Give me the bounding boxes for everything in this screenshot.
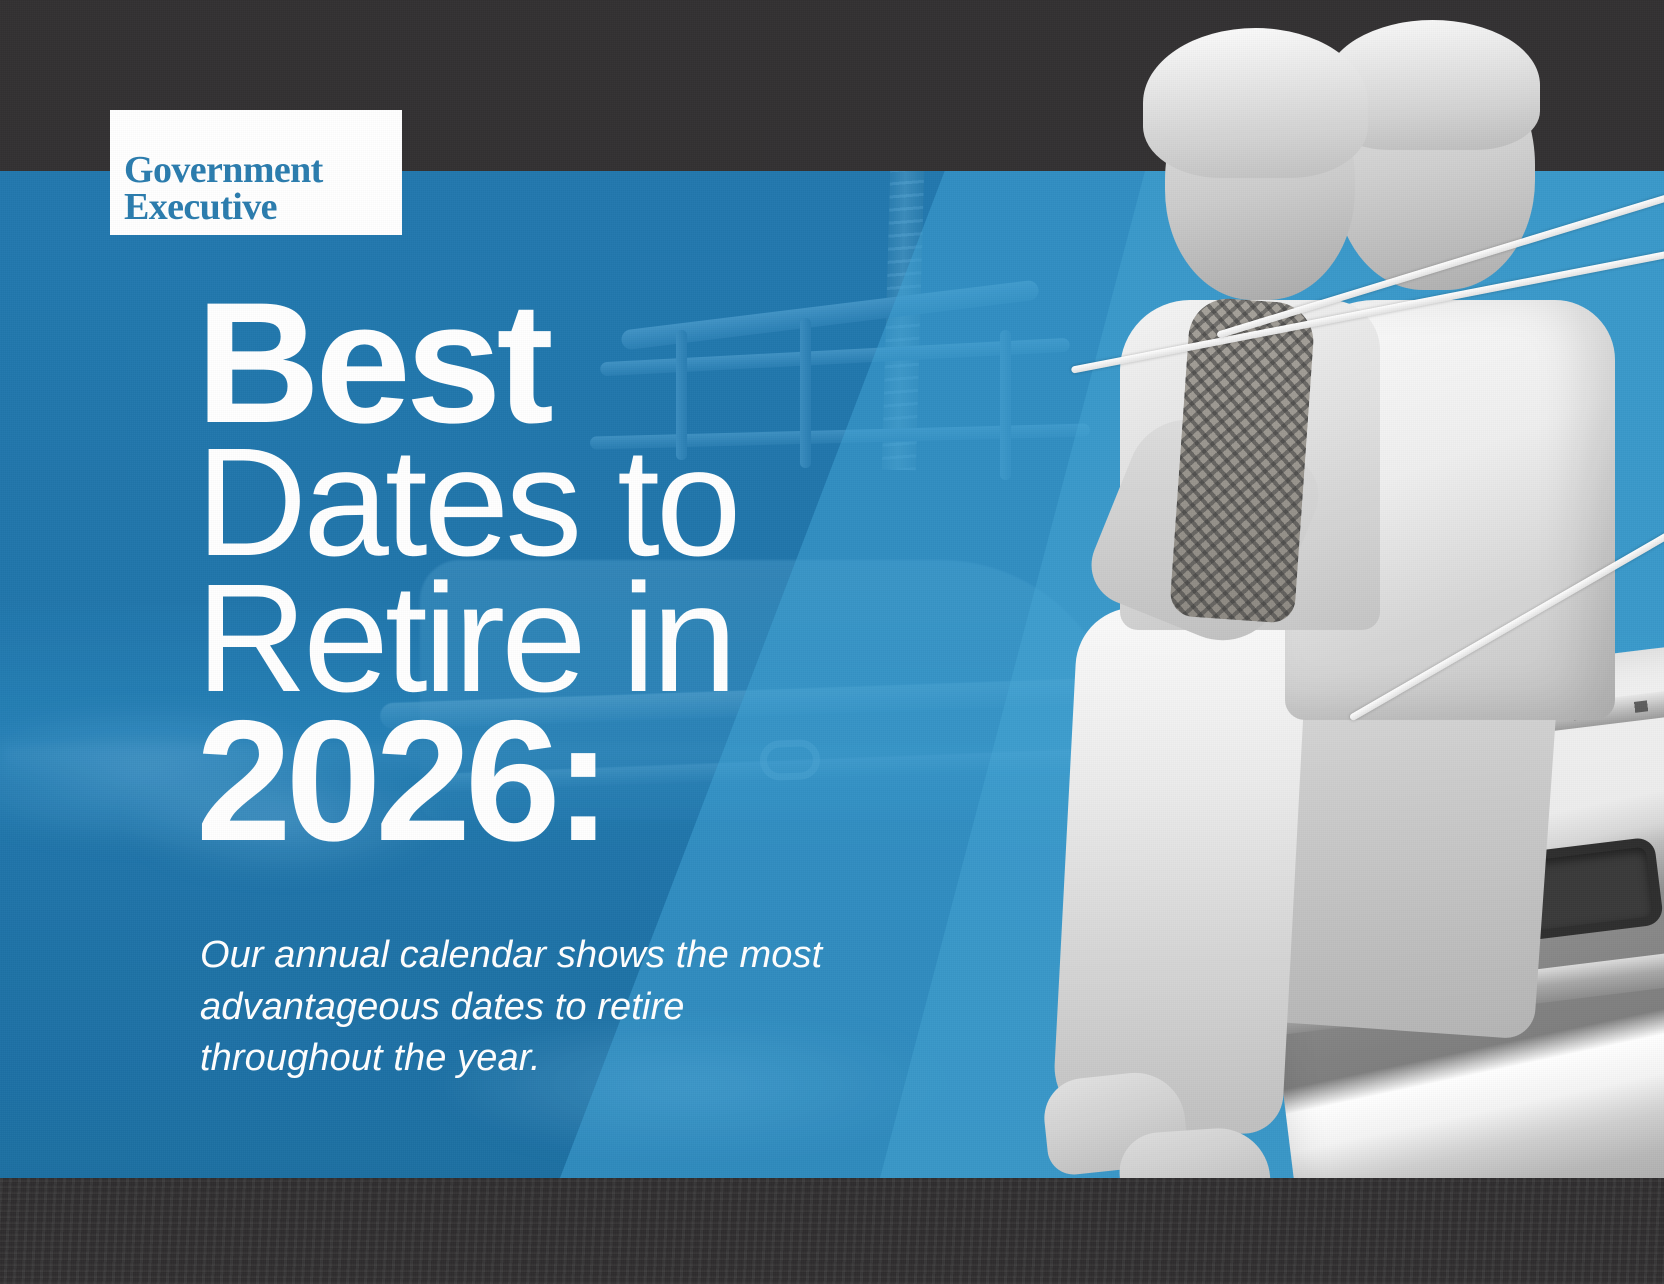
logo-line-executive: Executive xyxy=(124,189,402,225)
couple-cutout xyxy=(905,0,1664,1284)
bottom-dark-band xyxy=(0,1178,1664,1284)
page-title: Best Dates to Retire in 2026: xyxy=(196,288,1016,858)
headline-line-2: Dates to xyxy=(196,435,1016,571)
logo-line-government: Government xyxy=(124,152,402,188)
logo[interactable]: Government Executive xyxy=(110,110,402,235)
woman-legs xyxy=(1052,604,1309,1135)
subtitle-line-2: advantageous dates to retire xyxy=(200,982,900,1034)
couple-figures xyxy=(905,0,1664,1284)
subtitle: Our annual calendar shows the most advan… xyxy=(200,930,900,1085)
woman-hair xyxy=(1143,28,1368,178)
subtitle-line-1: Our annual calendar shows the most xyxy=(200,930,900,982)
headline-line-4: 2026: xyxy=(196,706,1016,857)
subtitle-line-3: throughout the year. xyxy=(200,1033,900,1085)
retirement-calendar-cover: Government Executive Best Dates to Retir… xyxy=(0,0,1664,1284)
